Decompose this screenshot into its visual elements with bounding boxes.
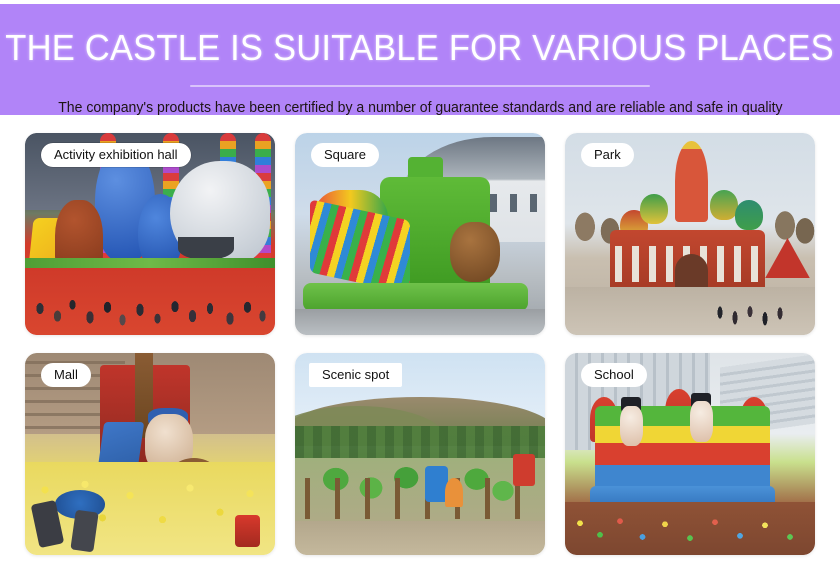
places-gallery-grid: Activity exhibition hall Square: [25, 133, 815, 555]
card-label-school: School: [581, 363, 647, 387]
gallery-card-activity-exhibition-hall[interactable]: Activity exhibition hall: [25, 133, 275, 335]
page-subtitle: The company's products have been certifi…: [58, 101, 782, 116]
title-divider: [190, 85, 650, 87]
card-label-square: Square: [311, 143, 379, 167]
gallery-card-mall[interactable]: Mall: [25, 353, 275, 555]
card-label-activity-exhibition-hall: Activity exhibition hall: [41, 143, 191, 167]
page-title: THE CASTLE IS SUITABLE FOR VARIOUS PLACE…: [6, 30, 835, 66]
gallery-card-park[interactable]: Park: [565, 133, 815, 335]
card-label-mall: Mall: [41, 363, 91, 387]
gallery-card-square[interactable]: Square: [295, 133, 545, 335]
card-label-scenic-spot: Scenic spot: [309, 363, 402, 387]
card-label-park: Park: [581, 143, 634, 167]
page-header-banner: THE CASTLE IS SUITABLE FOR VARIOUS PLACE…: [0, 4, 840, 115]
gallery-card-scenic-spot[interactable]: Scenic spot: [295, 353, 545, 555]
gallery-card-school[interactable]: School: [565, 353, 815, 555]
